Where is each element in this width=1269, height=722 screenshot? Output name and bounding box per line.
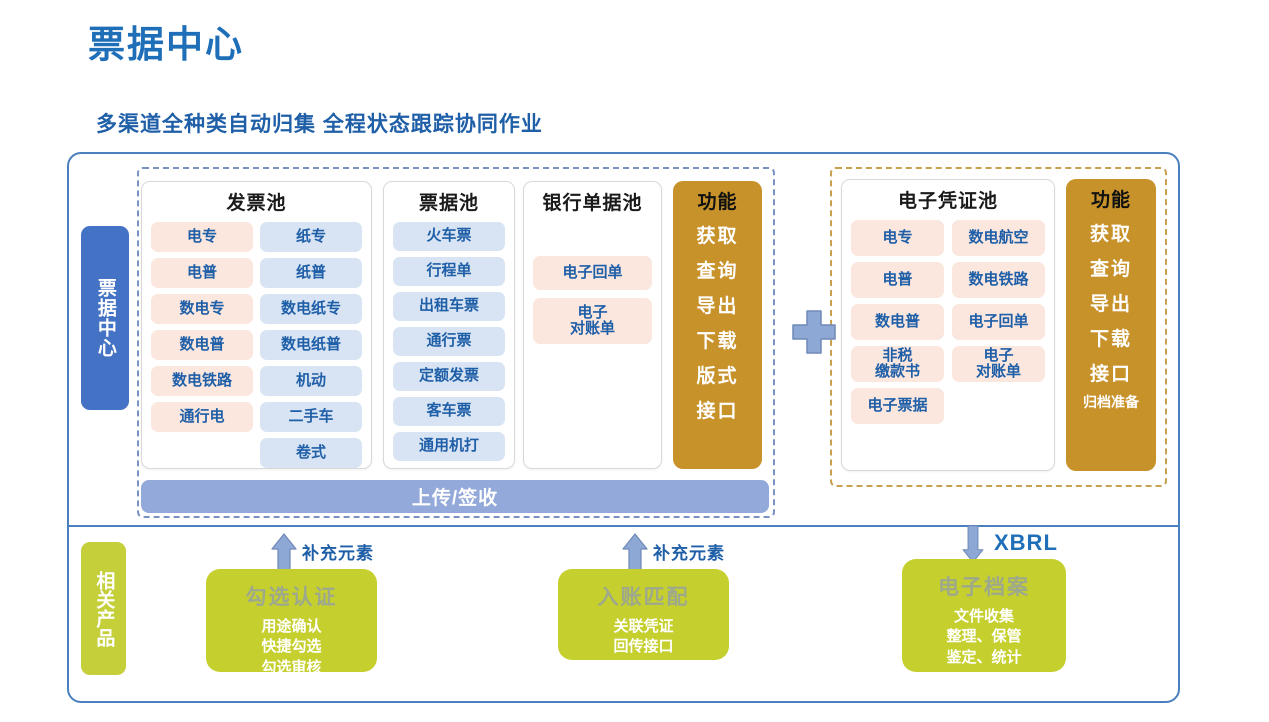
function-item[interactable]: 查询 (1090, 254, 1132, 281)
function-panel-right: 功能 获取 查询 导出 下载 接口 归档准备 (1066, 179, 1156, 471)
arrow-down-icon (960, 525, 986, 563)
section-divider (69, 525, 1178, 527)
pool-invoice-col-left: 电专 电普 数电专 数电普 数电铁路 通行电 (151, 222, 253, 468)
function-item[interactable]: 查询 (696, 256, 738, 283)
product-card-electronic-archive[interactable]: 电子档案 文件收集 整理、保管 鉴定、统计 (902, 559, 1066, 672)
tag-item[interactable]: 数电航空 (952, 220, 1045, 256)
tag-item[interactable]: 电子回单 (952, 304, 1045, 340)
upload-signoff-bar[interactable]: 上传/签收 (141, 480, 769, 513)
product-card-check-certification[interactable]: 勾选认证 用途确认 快捷勾选 勾选审核 (206, 569, 377, 672)
function-item[interactable]: 获取 (1090, 219, 1132, 246)
pool-invoice: 发票池 电专 电普 数电专 数电普 数电铁路 通行电 纸专 纸普 数电纸专 数电… (141, 181, 372, 469)
arrow-label-supplement-2: 补充元素 (653, 539, 725, 564)
plus-icon (791, 309, 837, 355)
tag-item[interactable]: 通用机打 (393, 432, 505, 461)
page-title: 票据中心 (88, 14, 244, 68)
tag-item[interactable]: 电子回单 (533, 256, 652, 290)
sidebar-tab-bill-center-label: 票据中心 (94, 278, 116, 358)
product-card-lines: 文件收集 整理、保管 鉴定、统计 (946, 607, 1021, 668)
tag-item[interactable]: 数电铁路 (952, 262, 1045, 298)
tag-item[interactable]: 电子 对账单 (952, 346, 1045, 382)
function-panel-right-title: 功能 (1091, 185, 1131, 212)
sidebar-tab-related-products-label: 相关产品 (93, 571, 115, 647)
tag-item[interactable]: 数电普 (151, 330, 253, 360)
tag-item[interactable]: 数电专 (151, 294, 253, 324)
pool-bill-title: 票据池 (384, 188, 514, 215)
arrow-label-supplement-1: 补充元素 (302, 539, 374, 564)
pool-bill: 票据池 火车票 行程单 出租车票 通行票 定额发票 客车票 通用机打 (383, 181, 515, 469)
tag-item[interactable]: 出租车票 (393, 292, 505, 321)
pool-bank: 银行单据池 电子回单 电子 对账单 (523, 181, 662, 469)
function-item[interactable]: 导出 (1090, 289, 1132, 316)
tag-item[interactable]: 纸专 (260, 222, 362, 252)
product-card-lines: 关联凭证 回传接口 (613, 617, 673, 658)
tag-item[interactable]: 电子票据 (851, 388, 944, 424)
tag-item[interactable]: 定额发票 (393, 362, 505, 391)
tag-item[interactable]: 电普 (851, 262, 944, 298)
tag-item[interactable]: 卷式 (260, 438, 362, 468)
tag-item[interactable]: 火车票 (393, 222, 505, 251)
function-item[interactable]: 接口 (696, 396, 738, 423)
pool-bank-title: 银行单据池 (524, 188, 661, 215)
function-item[interactable]: 导出 (696, 291, 738, 318)
tag-item[interactable]: 行程单 (393, 257, 505, 286)
pool-bill-col: 火车票 行程单 出租车票 通行票 定额发票 客车票 通用机打 (393, 222, 505, 461)
function-panel-left: 功能 获取 查询 导出 下载 版式 接口 (673, 181, 762, 469)
product-card-lines: 用途确认 快捷勾选 勾选审核 (261, 617, 321, 678)
product-card-title: 勾选认证 (246, 581, 338, 611)
tag-item[interactable]: 数电纸专 (260, 294, 362, 324)
pool-electronic-voucher: 电子凭证池 电专 电普 数电普 非税 缴款书 电子票据 数电航空 数电铁路 电子… (841, 179, 1055, 471)
tag-item[interactable]: 电普 (151, 258, 253, 288)
tag-item[interactable]: 数电普 (851, 304, 944, 340)
function-item[interactable]: 版式 (696, 361, 738, 388)
pool-invoice-title: 发票池 (142, 188, 371, 215)
function-panel-left-title: 功能 (697, 187, 737, 214)
sidebar-tab-related-products[interactable]: 相关产品 (81, 542, 126, 675)
pool-evoucher-col-left: 电专 电普 数电普 非税 缴款书 电子票据 (851, 220, 944, 424)
arrow-up-icon (271, 533, 297, 571)
tag-item[interactable]: 通行票 (393, 327, 505, 356)
page-subtitle: 多渠道全种类自动归集 全程状态跟踪协同作业 (96, 108, 543, 138)
arrow-label-xbrl: XBRL (994, 530, 1058, 556)
tag-item[interactable]: 非税 缴款书 (851, 346, 944, 382)
function-item[interactable]: 下载 (696, 326, 738, 353)
function-item[interactable]: 下载 (1090, 324, 1132, 351)
arrow-up-icon (622, 533, 648, 571)
function-item-archive-prep[interactable]: 归档准备 (1083, 392, 1139, 412)
tag-item[interactable]: 机动 (260, 366, 362, 396)
pool-electronic-voucher-title: 电子凭证池 (842, 186, 1054, 213)
function-item[interactable]: 获取 (696, 221, 738, 248)
tag-item[interactable]: 数电铁路 (151, 366, 253, 396)
function-item[interactable]: 接口 (1090, 359, 1132, 386)
diagram-frame: 票据中心 相关产品 发票池 电专 电普 数电专 数电普 数电铁路 通行电 纸专 … (67, 152, 1180, 703)
product-card-title: 入账匹配 (598, 581, 690, 611)
tag-item[interactable]: 电专 (851, 220, 944, 256)
sidebar-tab-bill-center[interactable]: 票据中心 (81, 226, 129, 410)
tag-item[interactable]: 电专 (151, 222, 253, 252)
tag-item[interactable]: 客车票 (393, 397, 505, 426)
product-card-title: 电子档案 (938, 571, 1030, 601)
tag-item[interactable]: 电子 对账单 (533, 298, 652, 344)
tag-item[interactable]: 纸普 (260, 258, 362, 288)
pool-evoucher-col-right: 数电航空 数电铁路 电子回单 电子 对账单 (952, 220, 1045, 424)
tag-item[interactable]: 数电纸普 (260, 330, 362, 360)
pool-invoice-col-right: 纸专 纸普 数电纸专 数电纸普 机动 二手车 卷式 (260, 222, 362, 468)
product-card-entry-matching[interactable]: 入账匹配 关联凭证 回传接口 (558, 569, 729, 660)
tag-item[interactable]: 通行电 (151, 402, 253, 432)
tag-item[interactable]: 二手车 (260, 402, 362, 432)
